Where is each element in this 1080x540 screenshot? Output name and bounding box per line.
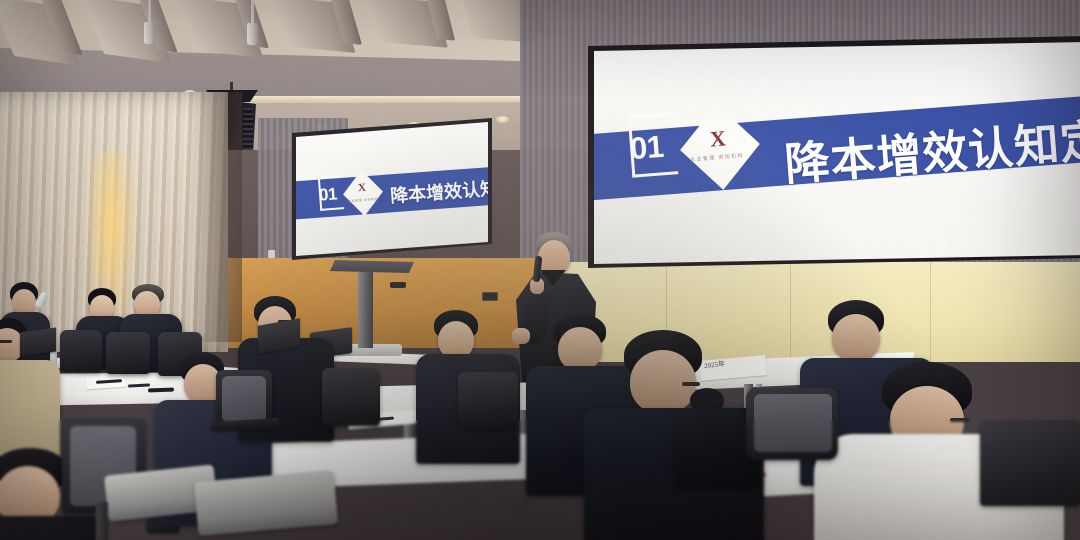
office-chair-mesh <box>222 376 266 422</box>
eyeglasses-icon <box>950 418 970 422</box>
main-slide: 01 X 企业管理 咨询机构 降本增效认知定 <box>594 42 1080 264</box>
conference-room-photo: 01 X 企业管理 咨询机构 降本增效认知定义 01 X 企业管理 咨询机构 降… <box>0 0 1080 540</box>
eyeglasses-icon <box>682 382 700 386</box>
office-chair[interactable] <box>980 420 1080 506</box>
office-chair[interactable] <box>458 372 518 428</box>
main-led-screen[interactable]: 01 X 企业管理 咨询机构 降本增效认知定 <box>594 42 1080 264</box>
pendant-light <box>148 0 151 24</box>
presenter-lower-hand <box>512 328 530 344</box>
curtain-shadow <box>190 92 242 342</box>
pendant-light <box>251 0 254 24</box>
logo-x-icon: X <box>709 125 727 152</box>
wall-switch-icon[interactable] <box>268 250 275 258</box>
office-chair[interactable] <box>60 330 102 372</box>
wall-seam <box>790 262 791 362</box>
office-chair-seat <box>194 470 338 536</box>
office-chair-mesh <box>754 394 832 452</box>
office-chair[interactable] <box>322 368 380 426</box>
exit-sign-icon <box>482 292 498 301</box>
wall-seam <box>930 262 931 362</box>
podium-cable <box>390 282 406 288</box>
person-head <box>832 314 880 362</box>
cream-wall-panel <box>540 262 1080 362</box>
main-slide-number: 01 <box>629 129 665 167</box>
pendant-light <box>144 22 155 44</box>
logo-x-icon: X <box>358 182 367 195</box>
left-slide-number: 01 <box>318 184 337 205</box>
office-chair[interactable] <box>106 332 150 374</box>
left-projection-screen[interactable]: 01 X 企业管理 咨询机构 降本增效认知定义 <box>296 122 488 256</box>
podium-top <box>330 260 414 273</box>
laptop[interactable] <box>20 327 56 356</box>
pendant-light <box>247 23 258 45</box>
office-chair-post <box>96 502 108 540</box>
podium-column <box>358 272 373 348</box>
person-body <box>0 516 104 540</box>
downlight <box>496 116 509 123</box>
person-head <box>558 327 602 371</box>
left-slide: 01 X 企业管理 咨询机构 降本增效认知定义 <box>296 122 488 256</box>
eyeglasses-icon <box>0 340 12 343</box>
